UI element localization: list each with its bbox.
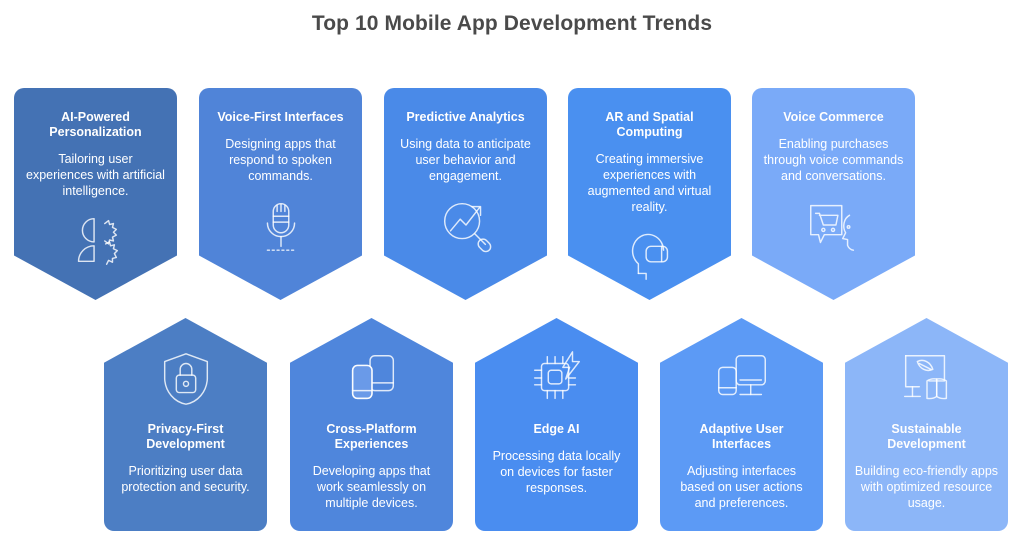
card-title: Voice Commerce: [783, 110, 884, 125]
vr-headset-icon: [619, 225, 681, 287]
card-title: Adaptive User Interfaces: [669, 422, 814, 452]
phone-tablet-icon: [341, 348, 403, 410]
page-title: Top 10 Mobile App Development Trends: [0, 12, 1024, 36]
card-description: Using data to anticipate user behavior a…: [393, 136, 538, 184]
card-description: Tailoring user experiences with artifici…: [23, 151, 168, 199]
card-title: Privacy-First Development: [113, 422, 258, 452]
trend-card-cross-platform-experiences[interactable]: Cross-Platform Experiences Developing ap…: [290, 318, 453, 531]
trend-card-ai-powered-personalization[interactable]: AI-Powered Personalization Tailoring use…: [14, 88, 177, 300]
microphone-icon: [250, 194, 312, 256]
trend-card-voice-commerce[interactable]: Voice Commerce Enabling purchases throug…: [752, 88, 915, 300]
card-title: Sustainable Development: [854, 422, 999, 452]
trend-card-predictive-analytics[interactable]: Predictive Analytics Using data to antic…: [384, 88, 547, 300]
chip-bolt-icon: [526, 348, 588, 410]
card-description: Creating immersive experiences with augm…: [577, 151, 722, 215]
card-title: Edge AI: [533, 422, 579, 437]
infographic-canvas: Top 10 Mobile App Development Trends AI-…: [0, 0, 1024, 548]
magnifier-trend-icon: [435, 194, 497, 256]
card-title: Cross-Platform Experiences: [299, 422, 444, 452]
trend-card-sustainable-development[interactable]: Sustainable Development Building eco-fri…: [845, 318, 1008, 531]
trend-card-ar-and-spatial-computing[interactable]: AR and Spatial Computing Creating immers…: [568, 88, 731, 300]
trend-card-privacy-first-development[interactable]: Privacy-First Development Prioritizing u…: [104, 318, 267, 531]
card-title: Predictive Analytics: [406, 110, 524, 125]
leaf-monitor-book-icon: [896, 348, 958, 410]
speech-bubble-cart-icon: [803, 194, 865, 256]
card-description: Building eco-friendly apps with optimize…: [854, 463, 999, 511]
trend-card-voice-first-interfaces[interactable]: Voice-First Interfaces Designing apps th…: [199, 88, 362, 300]
card-title: Voice-First Interfaces: [217, 110, 343, 125]
head-gear-icon: [65, 209, 127, 271]
card-description: Processing data locally on devices for f…: [484, 448, 629, 496]
trend-card-edge-ai[interactable]: Edge AI Processing data locally on devic…: [475, 318, 638, 531]
monitor-phone-icon: [711, 348, 773, 410]
card-title: AI-Powered Personalization: [23, 110, 168, 140]
card-description: Prioritizing user data protection and se…: [113, 463, 258, 495]
trend-card-adaptive-user-interfaces[interactable]: Adaptive User Interfaces Adjusting inter…: [660, 318, 823, 531]
card-description: Enabling purchases through voice command…: [761, 136, 906, 184]
shield-lock-icon: [155, 348, 217, 410]
card-description: Developing apps that work seamlessly on …: [299, 463, 444, 511]
card-description: Designing apps that respond to spoken co…: [208, 136, 353, 184]
card-title: AR and Spatial Computing: [577, 110, 722, 140]
card-description: Adjusting interfaces based on user actio…: [669, 463, 814, 511]
